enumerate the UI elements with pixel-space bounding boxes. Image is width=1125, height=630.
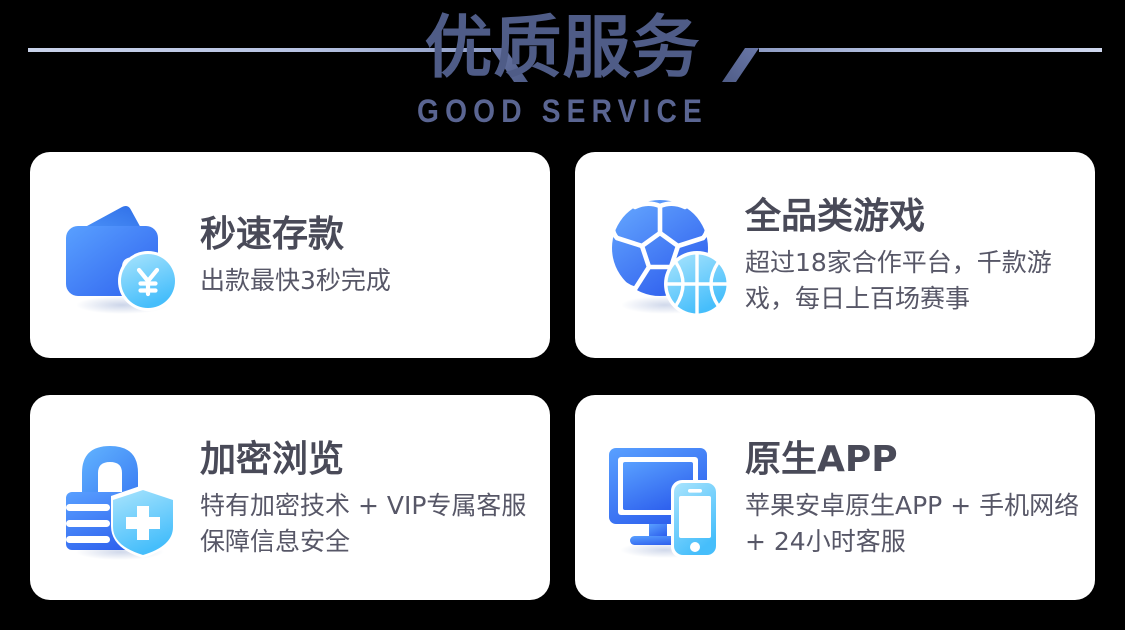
card-description: 苹果安卓原生APP + 手机网络 + 24小时客服 [745, 488, 1085, 560]
monitor-phone-icon [605, 436, 729, 560]
feature-card-games[interactable]: 全品类游戏 超过18家合作平台，千款游戏，每日上百场赛事 [575, 152, 1095, 358]
page-title: 优质服务 [0, 8, 1125, 90]
feature-card-grid: 秒速存款 出款最快3秒完成 [30, 152, 1095, 600]
title-block: 优质服务 GOOD SERVICE [0, 8, 1125, 129]
wallet-yen-icon [60, 193, 184, 317]
card-description: 特有加密技术 + VIP专属客服保障信息安全 [200, 488, 540, 560]
card-description: 超过18家合作平台，千款游戏，每日上百场赛事 [745, 245, 1085, 317]
page-subtitle: GOOD SERVICE [68, 93, 1058, 129]
card-text: 加密浏览 特有加密技术 + VIP专属客服保障信息安全 [200, 436, 540, 560]
feature-card-native-app[interactable]: 原生APP 苹果安卓原生APP + 手机网络 + 24小时客服 [575, 395, 1095, 600]
card-title: 全品类游戏 [745, 195, 1085, 239]
feature-card-encryption[interactable]: 加密浏览 特有加密技术 + VIP专属客服保障信息安全 [30, 395, 550, 600]
feature-card-deposit[interactable]: 秒速存款 出款最快3秒完成 [30, 152, 550, 358]
card-title: 原生APP [745, 438, 1085, 482]
card-title: 秒速存款 [200, 213, 391, 257]
card-description: 出款最快3秒完成 [200, 263, 391, 299]
soccer-basketball-icon [605, 193, 729, 317]
lock-shield-icon [60, 436, 184, 560]
card-title: 加密浏览 [200, 438, 540, 482]
card-text: 全品类游戏 超过18家合作平台，千款游戏，每日上百场赛事 [745, 193, 1085, 317]
header: 优质服务 GOOD SERVICE [0, 0, 1125, 146]
card-text: 秒速存款 出款最快3秒完成 [200, 211, 391, 299]
card-text: 原生APP 苹果安卓原生APP + 手机网络 + 24小时客服 [745, 436, 1085, 560]
good-service-banner: 优质服务 GOOD SERVICE [0, 0, 1125, 630]
